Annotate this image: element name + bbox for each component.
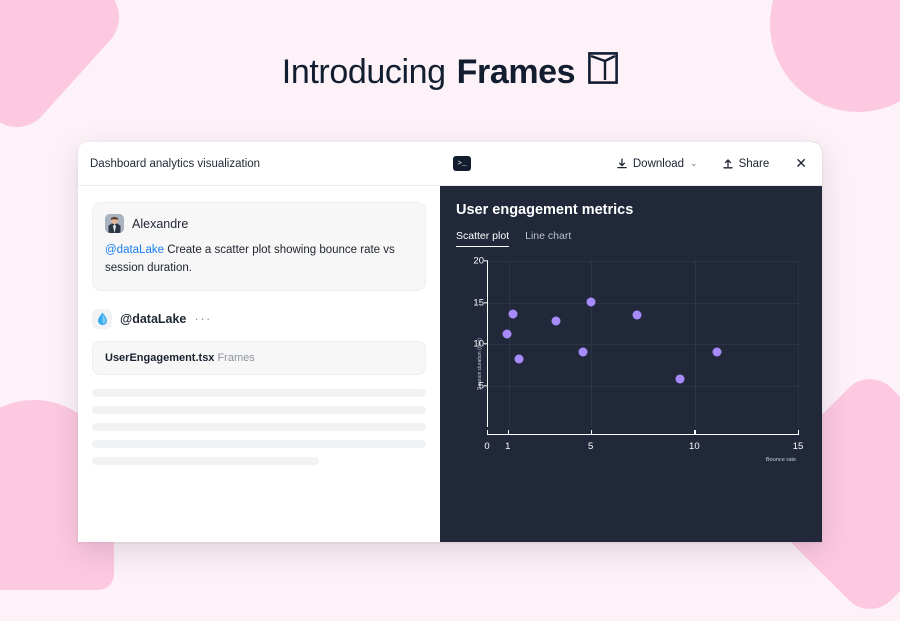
scatter-point[interactable] — [579, 348, 588, 357]
y-tick-mark — [484, 302, 488, 303]
y-tick-label: 10 — [473, 339, 484, 350]
message-text: @dataLake Create a scatter plot showing … — [105, 242, 413, 278]
x-tick-label: 0 — [484, 441, 489, 452]
frame-toolbar: >_ Download ⌄ Share ✕ — [440, 142, 822, 186]
scatter-point[interactable] — [676, 374, 685, 383]
message-author-row: Alexandre — [105, 214, 413, 233]
scatter-point[interactable] — [508, 310, 517, 319]
app-window: Dashboard analytics visualization Alexa — [78, 142, 822, 542]
download-label: Download — [633, 158, 684, 170]
conversation-header: Dashboard analytics visualization — [78, 142, 440, 186]
x-tick-mark — [487, 430, 488, 435]
terminal-icon[interactable]: >_ — [453, 156, 471, 171]
water-droplet-icon — [92, 309, 112, 329]
avatar — [105, 214, 124, 233]
chart-title: User engagement metrics — [456, 202, 804, 218]
y-axis-ticks: 5101520 — [462, 261, 484, 427]
skeleton-line — [92, 440, 426, 448]
file-chip-kind: Frames — [217, 352, 254, 364]
agent-response-row: @dataLake ··· — [92, 309, 426, 329]
x-axis-label: Bounce rate — [766, 457, 796, 463]
y-tick-label: 15 — [473, 297, 484, 308]
gridline-vertical — [509, 261, 510, 427]
scatter-point[interactable] — [502, 330, 511, 339]
loading-skeleton — [92, 389, 426, 465]
y-tick-mark — [484, 260, 488, 261]
gridline-vertical — [591, 261, 592, 427]
x-tick-mark — [694, 430, 695, 435]
share-button[interactable]: Share — [722, 158, 770, 170]
share-label: Share — [739, 158, 770, 170]
frame-preview-pane: >_ Download ⌄ Share ✕ — [440, 142, 822, 542]
scatter-point[interactable] — [552, 316, 561, 325]
gridline-horizontal — [488, 261, 798, 262]
x-tick-label: 5 — [588, 441, 593, 452]
message-author-name: Alexandre — [132, 217, 188, 231]
scatter-plot: Session duration (min) 5101520 0151015 B… — [456, 261, 804, 467]
tab-scatter-plot[interactable]: Scatter plot — [456, 230, 509, 247]
download-icon — [616, 158, 628, 170]
mention-datalake[interactable]: @dataLake — [105, 244, 164, 256]
file-chip-name: UserEngagement.tsx — [105, 352, 214, 364]
skeleton-line — [92, 389, 426, 397]
conversation-title: Dashboard analytics visualization — [90, 158, 260, 170]
skeleton-line — [92, 406, 426, 414]
page-title-light: Introducing — [282, 53, 446, 92]
x-tick-mark — [508, 430, 509, 435]
x-tick-mark — [591, 430, 592, 435]
x-tick-label: 10 — [689, 441, 700, 452]
file-chip[interactable]: UserEngagement.tsxFrames — [92, 341, 426, 375]
x-tick-label: 15 — [793, 441, 804, 452]
page-title: Introducing Frames — [0, 52, 900, 93]
close-icon[interactable]: ✕ — [793, 155, 809, 172]
gridline-horizontal — [488, 303, 798, 304]
gridline-vertical — [695, 261, 696, 427]
y-tick-mark — [484, 343, 488, 344]
x-tick-label: 1 — [505, 441, 510, 452]
page-title-bold: Frames — [457, 53, 576, 92]
user-message-card: Alexandre @dataLake Create a scatter plo… — [92, 202, 426, 291]
agent-name: @dataLake — [120, 312, 186, 326]
chevron-down-icon: ⌄ — [690, 158, 698, 169]
conversation-pane: Dashboard analytics visualization Alexa — [78, 142, 440, 542]
skeleton-line — [92, 423, 426, 431]
y-tick-mark — [484, 385, 488, 386]
scatter-point[interactable] — [713, 348, 722, 357]
gridline-horizontal — [488, 386, 798, 387]
scatter-point[interactable] — [515, 354, 524, 363]
download-button[interactable]: Download ⌄ — [616, 158, 698, 170]
plot-area — [487, 261, 798, 427]
gridline-vertical — [798, 261, 799, 427]
frames-glyph-icon — [588, 52, 618, 93]
x-axis-line — [487, 434, 798, 435]
y-tick-label: 20 — [473, 256, 484, 267]
x-tick-mark — [798, 430, 799, 435]
tab-line-chart[interactable]: Line chart — [525, 230, 571, 247]
chart-tabs: Scatter plot Line chart — [456, 230, 804, 247]
chart-container: User engagement metrics Scatter plot Lin… — [440, 186, 822, 542]
agent-menu-icon[interactable]: ··· — [194, 311, 212, 326]
gridline-horizontal — [488, 344, 798, 345]
conversation-body: Alexandre @dataLake Create a scatter plo… — [78, 186, 440, 542]
scatter-point[interactable] — [632, 310, 641, 319]
skeleton-line — [92, 457, 319, 465]
x-axis-ticks: 0151015 — [487, 441, 798, 455]
scatter-point[interactable] — [587, 297, 596, 306]
share-icon — [722, 158, 734, 170]
